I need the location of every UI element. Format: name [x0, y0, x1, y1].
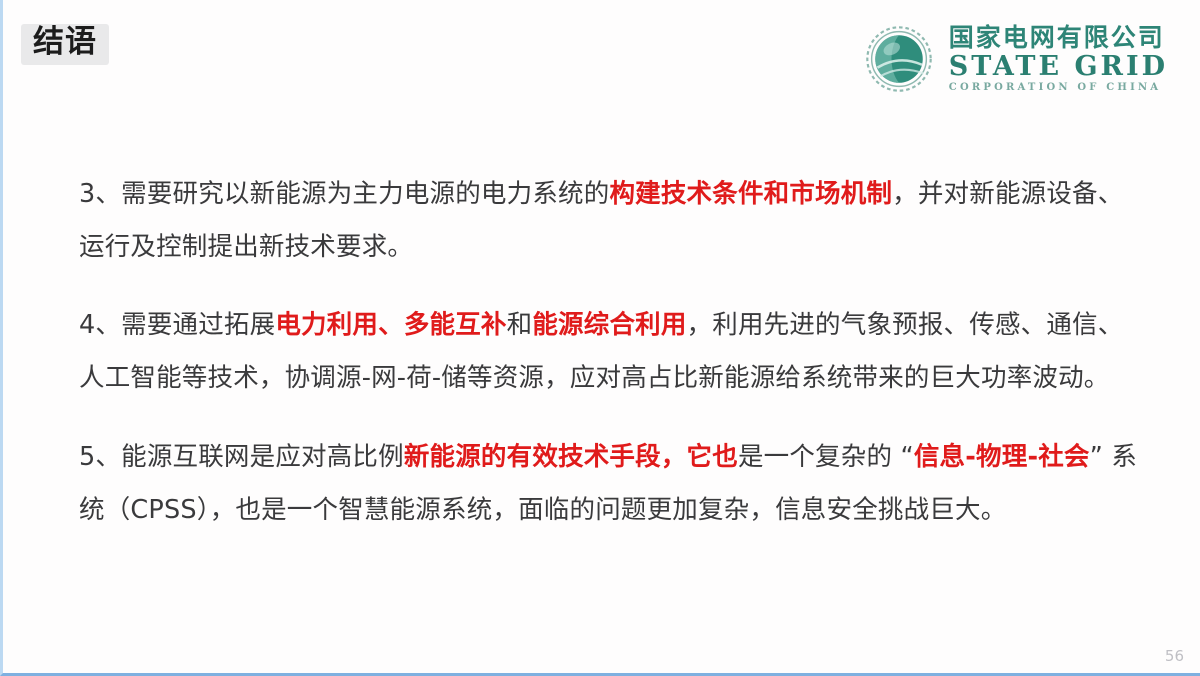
text-run-emphasis: 电力利用、多能互补	[275, 310, 506, 340]
text-run-normal: 5、能源互联网是应对高比例	[79, 442, 404, 472]
slide-body: 3、需要研究以新能源为主力电源的电力系统的构建技术条件和市场机制，并对新能源设备…	[79, 142, 1141, 562]
text-run-normal: 是一个复杂的 “	[738, 442, 914, 472]
logo-text-block: 国家电网有限公司 STATE GRID CORPORATION OF CHINA	[949, 25, 1168, 93]
text-run-normal: 和	[507, 310, 533, 340]
text-run-emphasis: 能源综合利用	[532, 310, 686, 340]
text-run-emphasis: 信息-物理-社会	[914, 442, 1090, 472]
logo-company-cn: 国家电网有限公司	[949, 25, 1168, 50]
paragraph-item-5: 5、能源互联网是应对高比例新能源的有效技术手段，它也是一个复杂的 “信息-物理-…	[79, 431, 1141, 537]
paragraph-item-3: 3、需要研究以新能源为主力电源的电力系统的构建技术条件和市场机制，并对新能源设备…	[79, 168, 1141, 274]
logo-company-en: STATE GRID	[949, 53, 1168, 80]
text-run-emphasis: 构建技术条件和市场机制	[609, 179, 892, 209]
page-number: 56	[1165, 647, 1184, 665]
text-run-emphasis: 新能源的有效技术手段，它也	[404, 442, 738, 472]
state-grid-globe-icon	[863, 20, 935, 98]
text-run-normal: 4、需要通过拓展	[79, 310, 275, 340]
paragraph-item-4: 4、需要通过拓展电力利用、多能互补和能源综合利用，利用先进的气象预报、传感、通信…	[79, 299, 1141, 405]
slide-title-highlight: 结语	[21, 24, 109, 65]
logo-company-sub: CORPORATION OF CHINA	[949, 83, 1168, 93]
state-grid-logo: 国家电网有限公司 STATE GRID CORPORATION OF CHINA	[863, 20, 1168, 98]
presentation-slide: 结语 国家电网有限公司 STATE GRID	[0, 0, 1200, 676]
page-title: 结语	[33, 27, 97, 58]
text-run-normal: 3、需要研究以新能源为主力电源的电力系统的	[79, 179, 609, 209]
slide-header: 结语 国家电网有限公司 STATE GRID	[3, 0, 1200, 118]
